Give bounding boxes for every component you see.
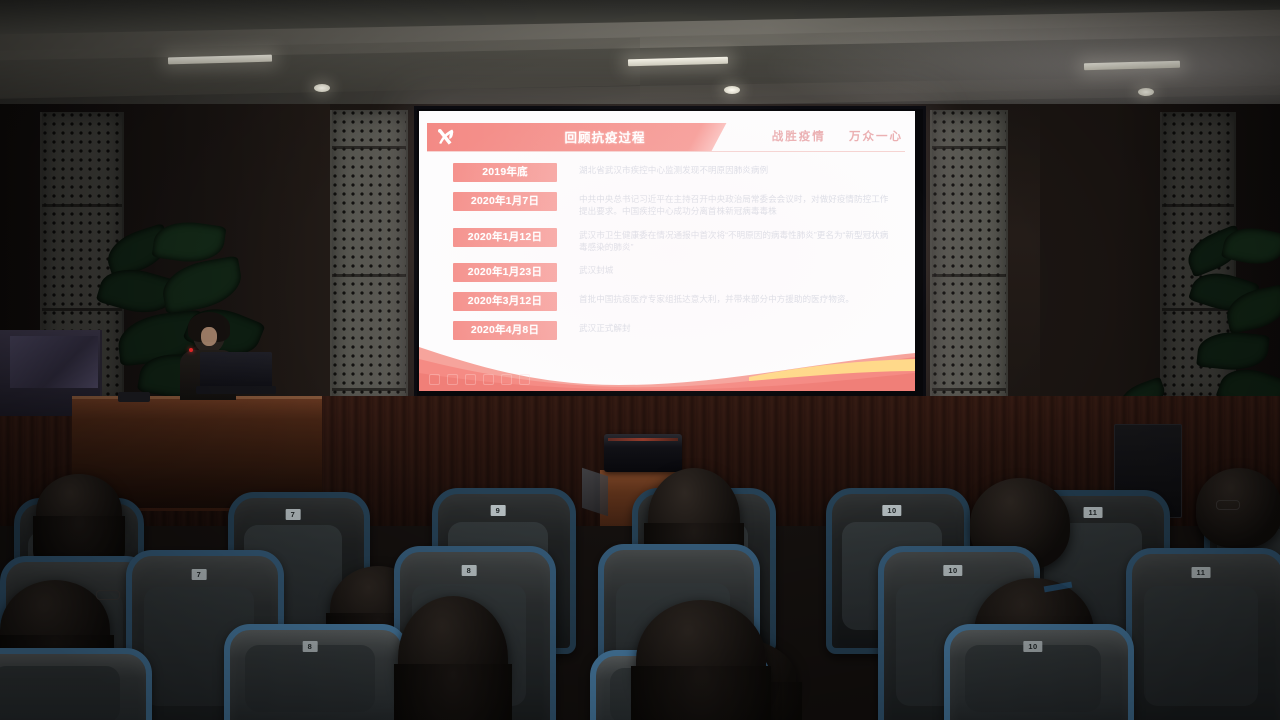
- seat-number: 9: [491, 505, 506, 516]
- seat-front-8[interactable]: 8: [224, 624, 396, 720]
- desk-device: [118, 392, 150, 402]
- audience-head-front: [398, 596, 508, 720]
- timeline-date-badge: 2020年1月7日: [453, 192, 557, 211]
- timeline-row: 2020年1月7日 中共中央总书记习近平在主持召开中央政治局常委会会议时，对做好…: [453, 192, 893, 218]
- acoustic-panel-column: [330, 110, 408, 410]
- center-equipment-stripe: [608, 438, 678, 441]
- seat-number: 11: [1192, 567, 1211, 578]
- slogan-2: 万众一心: [849, 131, 903, 143]
- seat-number: 11: [1084, 507, 1103, 518]
- timeline-event-text: 湖北省武汉市疾控中心监测发现不明原因肺炎病例: [579, 163, 893, 177]
- timeline-event-text: 武汉封城: [579, 263, 893, 277]
- timeline-event-text: 首批中国抗疫医疗专家组抵达意大利，并带来部分中方援助的医疗物资。: [579, 292, 893, 306]
- seat-number: 8: [303, 641, 318, 652]
- projection-screen[interactable]: 回顾抗疫过程 战胜疫情 万众一心 2019年底 湖北省武汉市疾控中心监测发现不明…: [419, 111, 915, 391]
- slide-title: 回顾抗疫过程: [515, 127, 695, 146]
- slide-header-divider: [427, 151, 905, 152]
- laptop-lid: [200, 352, 272, 386]
- seat-number: 7: [192, 569, 207, 580]
- seat-number: 10: [882, 505, 901, 516]
- podium-side-panel: [582, 468, 608, 516]
- acoustic-panel-column: [930, 110, 1008, 410]
- lecture-hall-photo: 回顾抗疫过程 战胜疫情 万众一心 2019年底 湖北省武汉市疾控中心监测发现不明…: [0, 0, 1280, 720]
- laptop-base: [196, 386, 276, 394]
- timeline-date-badge: 2020年1月12日: [453, 228, 557, 247]
- timeline-date-badge: 2019年底: [453, 163, 557, 182]
- seat-number: 10: [1023, 641, 1042, 652]
- eyeglasses-icon: [1216, 500, 1240, 510]
- seat-mid-11[interactable]: 11: [1126, 548, 1276, 720]
- seat-number: 8: [462, 565, 477, 576]
- ceiling-downlight: [724, 86, 740, 94]
- hammer-and-sickle-icon: [435, 126, 457, 148]
- seat-front-left[interactable]: [0, 648, 140, 720]
- timeline-event-text: 中共中央总书记习近平在主持召开中央政治局常委会会议时，对做好疫情防控工作提出要求…: [579, 192, 893, 218]
- ceiling-downlight: [1138, 88, 1154, 96]
- audience-head: [36, 474, 122, 550]
- slide-footer-glyphs: [429, 374, 530, 385]
- audience-head-front: [636, 600, 766, 720]
- presenter-face: [201, 327, 217, 346]
- slogan-1: 战胜疫情: [772, 131, 826, 143]
- timeline-list: 2019年底 湖北省武汉市疾控中心监测发现不明原因肺炎病例 2020年1月7日 …: [453, 163, 893, 350]
- microphone-indicator-light: [189, 348, 193, 352]
- slide-wave-decoration: [419, 333, 915, 391]
- eyeglasses-icon: [96, 590, 120, 600]
- timeline-event-text: 武汉市卫生健康委在情况通报中首次将“不明原因的病毒性肺炎”更名为“新型冠状病毒感…: [579, 228, 893, 254]
- slide-header-slogans: 战胜疫情 万众一心: [754, 128, 903, 144]
- seat-number: 7: [286, 509, 301, 520]
- timeline-date-badge: 2020年3月12日: [453, 292, 557, 311]
- seat-number: 10: [943, 565, 962, 576]
- timeline-row: 2020年1月23日 武汉封城: [453, 263, 893, 282]
- timeline-row: 2020年1月12日 武汉市卫生健康委在情况通报中首次将“不明原因的病毒性肺炎”…: [453, 228, 893, 254]
- timeline-row: 2020年3月12日 首批中国抗疫医疗专家组抵达意大利，并带来部分中方援助的医疗…: [453, 292, 893, 311]
- slide-header: 回顾抗疫过程 战胜疫情 万众一心: [419, 123, 915, 151]
- seat-front-10[interactable]: 10: [944, 624, 1122, 720]
- ceiling-downlight: [314, 84, 330, 92]
- ceiling-glow: [760, 0, 1280, 112]
- timeline-row: 2019年底 湖北省武汉市疾控中心监测发现不明原因肺炎病例: [453, 163, 893, 182]
- lectern-monitor: [10, 336, 98, 388]
- timeline-date-badge: 2020年1月23日: [453, 263, 557, 282]
